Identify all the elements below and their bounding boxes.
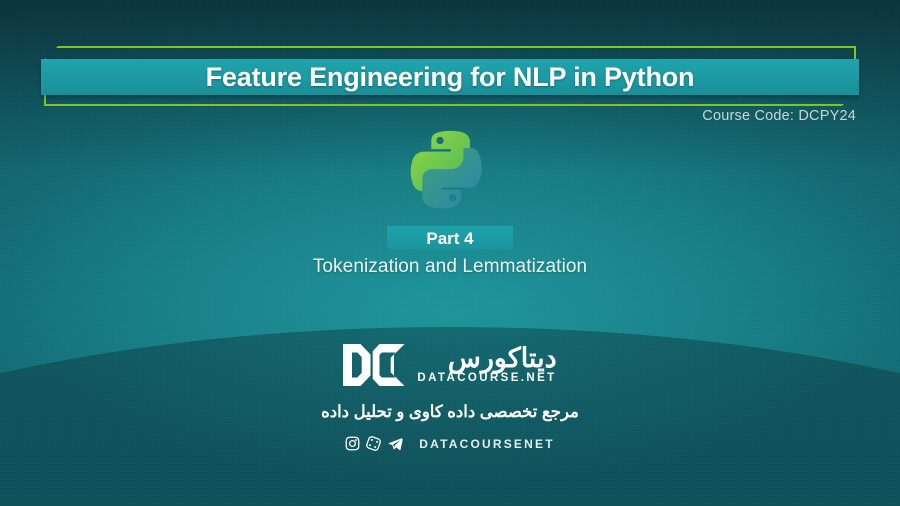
slide-subtitle: Tokenization and Lemmatization — [0, 256, 900, 278]
social-handle: DATACOURSENET — [419, 437, 555, 451]
part-badge: Part 4 — [387, 226, 513, 250]
brand-block: دیتاکورس DATACOURSE.NET مرجع تخصصی داده … — [0, 344, 900, 451]
datacourse-monogram-icon — [343, 344, 405, 386]
slide-canvas: Feature Engineering for NLP in Python Co… — [0, 0, 900, 506]
instagram-icon[interactable] — [345, 436, 360, 451]
python-logo-icon — [404, 124, 496, 216]
telegram-icon[interactable] — [387, 436, 404, 451]
part-label: Part 4 — [426, 230, 473, 247]
title-bar: Feature Engineering for NLP in Python — [41, 59, 859, 95]
brand-logo-row: دیتاکورس DATACOURSE.NET — [343, 344, 556, 386]
brand-name-fa: دیتاکورس — [448, 345, 557, 372]
brand-tagline: مرجع تخصصی داده کاوی و تحلیل داده — [321, 402, 579, 422]
aparat-icon[interactable] — [366, 436, 381, 451]
title-frame: Feature Engineering for NLP in Python — [44, 46, 856, 106]
brand-wordmark: دیتاکورس DATACOURSE.NET — [417, 345, 556, 385]
brand-name-en: DATACOURSE.NET — [417, 373, 556, 385]
page-title: Feature Engineering for NLP in Python — [206, 64, 695, 91]
course-code: Course Code: DCPY24 — [702, 108, 856, 124]
social-row: DATACOURSENET — [345, 436, 555, 451]
